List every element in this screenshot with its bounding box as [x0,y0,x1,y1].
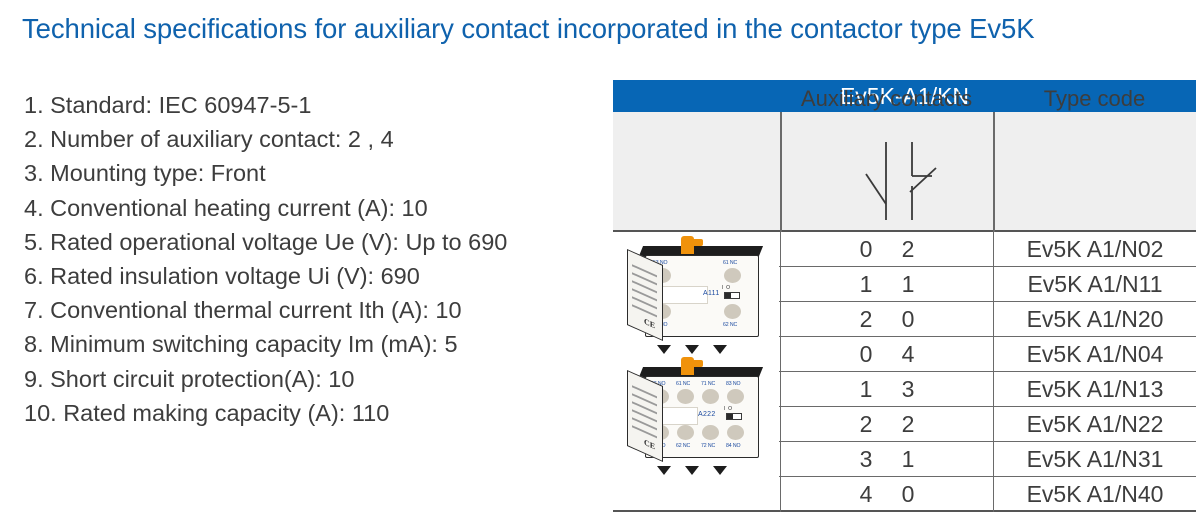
nc-count: 3 [895,372,921,407]
spec-item-6: 6. Rated insulation voltage Ui (V): 690 [24,259,604,293]
type-code-cell: Ev5K A1/N11 [993,267,1196,302]
terminal-62-nc [724,304,741,319]
terminal-label-61: 61 NC [676,381,690,387]
terminal-label-71: 71 NC [701,381,715,387]
header-divider-1 [780,112,782,232]
header-divider-2 [993,112,995,232]
spec-item-5: 5. Rated operational voltage Ue (V): Up … [24,225,604,259]
terminal-label-83: 83 NO [726,381,741,387]
type-code-cell: Ev5K A1/N31 [993,442,1196,477]
no-count: 1 [853,267,879,302]
spec-item-4: 4. Conventional heating current (A): 10 [24,191,604,225]
terminal-72-nc [702,425,719,440]
terminal-label-72: 72 NC [701,443,715,449]
terminal-71-nc [702,389,719,404]
terminal-label-61: 61 NC [723,260,737,266]
ce-mark-icon: CE [644,438,655,452]
column-header-aux-contacts: Auxiliary contacts [780,84,993,114]
terminal-62-nc [677,425,694,440]
photo-column-divider [780,232,781,512]
page-title: Technical specifications for auxiliary c… [22,12,1192,46]
test-switch-icon [724,292,740,299]
column-header-type-code: Type code [993,84,1196,114]
type-code-cell: Ev5K A1/N22 [993,407,1196,442]
nc-count: 1 [895,267,921,302]
aux-contacts-cell: 40 [780,477,993,512]
no-count: 0 [853,337,879,372]
no-count: 0 [853,232,879,267]
nc-count: 0 [895,302,921,337]
ce-mark-icon: CE [644,317,655,331]
product-foot [685,466,699,475]
nc-count: 2 [895,232,921,267]
aux-contacts-cell: 31 [780,442,993,477]
aux-contacts-cell: 04 [780,337,993,372]
blank-label [660,286,708,304]
no-count: 4 [853,477,879,512]
spec-item-8: 8. Minimum switching capacity Im (mA): 5 [24,327,604,361]
product-foot [685,345,699,354]
product-foot [713,345,727,354]
product-model-label: A222 [698,411,716,418]
nc-count: 1 [895,442,921,477]
spec-item-10: 10. Rated making capacity (A): 110 [24,396,604,430]
terminal-61-nc [724,268,741,283]
aux-contacts-cell: 11 [780,267,993,302]
product-model-label: A111 [703,290,720,297]
test-switch-icon [726,413,742,420]
product-side-label: CE [627,249,663,341]
nc-count: 0 [895,477,921,512]
terminal-label-84: 84 NO [726,443,741,449]
product-foot [713,466,727,475]
nc-count: 2 [895,407,921,442]
product-side-label: CE [627,370,663,462]
specifications-list: 1. Standard: IEC 60947-5-1 2. Number of … [24,88,604,430]
aux-contacts-cell: 22 [780,407,993,442]
terminal-83-no [727,389,744,404]
spec-item-2: 2. Number of auxiliary contact: 2 , 4 [24,122,604,156]
normally-closed-contact-icon [898,142,946,220]
type-code-cell: Ev5K A1/N20 [993,302,1196,337]
io-marking: I O [724,406,732,412]
product-foot [657,345,671,354]
terminal-84-no [727,425,744,440]
no-count: 2 [853,302,879,337]
type-code-cell: Ev5K A1/N04 [993,337,1196,372]
aux-contacts-cell: 20 [780,302,993,337]
type-code-cell: Ev5K A1/N13 [993,372,1196,407]
no-count: 3 [853,442,879,477]
spec-item-9: 9. Short circuit protection(A): 10 [24,362,604,396]
spec-item-7: 7. Conventional thermal current Ith (A):… [24,293,604,327]
no-count: 2 [853,407,879,442]
type-code-cell: Ev5K A1/N40 [993,477,1196,512]
aux-contacts-cell: 02 [780,232,993,267]
terminal-label-62: 62 NC [723,322,737,328]
product-image-4-pole-auxiliary-block: 53 NO 61 NC 71 NC 83 NO 54 NO 62 NC 72 N… [623,356,773,468]
io-marking: I O [722,285,730,291]
auxiliary-contact-table: Ev5K-A1/KN Auxiliary contacts Type code … [613,80,1196,512]
type-code-cell: Ev5K A1/N02 [993,232,1196,267]
product-image-2-pole-auxiliary-block: 53 NO 61 NC 54 NO 62 NC A111 I O CE [623,235,773,347]
spec-item-1: 1. Standard: IEC 60947-5-1 [24,88,604,122]
no-count: 1 [853,372,879,407]
terminal-label-62: 62 NC [676,443,690,449]
nc-count: 4 [895,337,921,372]
product-foot [657,466,671,475]
orange-lever-icon [681,236,694,254]
orange-lever-icon [681,357,694,375]
spec-item-3: 3. Mounting type: Front [24,156,604,190]
terminal-61-nc [677,389,694,404]
normally-open-contact-icon [856,142,904,220]
aux-contacts-cell: 13 [780,372,993,407]
